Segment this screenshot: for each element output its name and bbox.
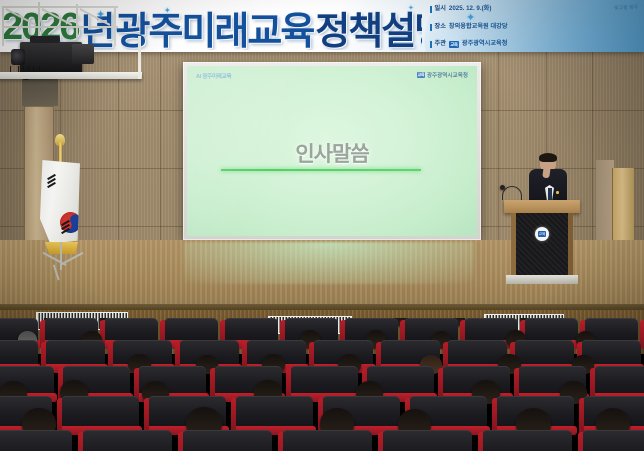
podium-front-panel: 교육 [516, 213, 568, 275]
banner-meta-row-date: 일시 2025. 12. 9.(화) [430, 6, 590, 13]
auditorium-seat[interactable] [282, 430, 372, 451]
auditorium-seat[interactable] [290, 366, 358, 397]
auditorium-seat[interactable] [382, 430, 472, 451]
camera-hood [72, 44, 94, 64]
speaker-hair [539, 153, 557, 162]
banner-meta-block: 일시 2025. 12. 9.(화) 장소 창의융합교육원 대강당 주관 교육 … [430, 6, 590, 48]
auditorium-photo: 2026년 광주미래교육 정책설명회 ✦ ✦ ✦ ✦ 일시 2025. 12. … [0, 0, 644, 451]
projection-screen-frame: AI 광주미래교육 교육 광주광역시교육청 인사말씀 [183, 62, 481, 240]
banner-meta-key: 일시 [435, 6, 446, 12]
stage-screen-reflection [184, 242, 474, 284]
projection-screen: AI 광주미래교육 교육 광주광역시교육청 인사말씀 [187, 66, 477, 236]
banner-corner-logo: 빛고을 광주 [613, 4, 638, 11]
auditorium-seat[interactable] [182, 430, 272, 451]
slide-header-right: 교육 광주광역시교육청 [417, 71, 468, 79]
slide-title: 인사말씀 [187, 138, 477, 168]
rig-deck [0, 72, 142, 79]
banner-meta-row-host: 주관 교육 광주광역시교육청 [430, 41, 590, 48]
banner-meta-value: 광주광역시교육청 [462, 41, 508, 47]
auditorium-seat[interactable] [514, 340, 574, 368]
auditorium-seat[interactable] [61, 396, 139, 430]
banner-title-event: 정책설명회 [315, 4, 422, 50]
banner-meta-key: 주관 [435, 41, 446, 47]
auditorium-seat[interactable] [82, 430, 172, 451]
camera-rig-platform [0, 36, 146, 96]
flag-tripod-stand [30, 242, 92, 286]
auditorium-seat[interactable] [45, 340, 105, 368]
slide-office-name: 광주광역시교육청 [427, 71, 468, 79]
gwangju-education-mark-icon: 교육 [449, 41, 459, 48]
camera-lens-icon [11, 49, 25, 65]
auditorium-seat[interactable] [0, 340, 38, 368]
banner-meta-value: 2025. 12. 9.(화) [449, 6, 492, 12]
slide-office-mark-icon: 교육 [417, 72, 425, 78]
banner-meta-value: 창의융합교육원 대강당 [449, 24, 508, 30]
seat-row [0, 340, 644, 368]
banner-meta-row-place: 장소 창의융합교육원 대강당 [430, 24, 590, 31]
auditorium-seat[interactable] [582, 430, 644, 451]
auditorium-seating [0, 318, 644, 451]
sparkle-icon: ✦ [466, 11, 475, 24]
banner-meta-key: 장소 [435, 24, 446, 30]
seat-row [0, 366, 644, 397]
camera-top-handle [30, 36, 60, 43]
podium-desktop [504, 200, 580, 213]
auditorium-seat[interactable] [482, 430, 572, 451]
auditorium-seat[interactable] [594, 366, 644, 397]
sparkle-icon: ✦ [408, 4, 414, 12]
slide-title-underline [221, 169, 421, 171]
podium-emblem-icon: 교육 [535, 227, 549, 241]
auditorium-seat[interactable] [235, 396, 313, 430]
sparkle-icon: ✦ [164, 6, 171, 15]
rig-post [138, 36, 141, 79]
podium-emblem-label: 교육 [538, 231, 546, 237]
seat-row [0, 430, 644, 451]
auditorium-seat[interactable] [0, 430, 72, 451]
podium-body: 교육 [511, 213, 573, 275]
flag-cloth [40, 160, 80, 244]
korean-flag-icon [30, 138, 92, 278]
slide-header-left: AI 광주미래교육 [196, 72, 231, 80]
podium: 교육 [504, 182, 580, 292]
podium-base [506, 275, 578, 284]
